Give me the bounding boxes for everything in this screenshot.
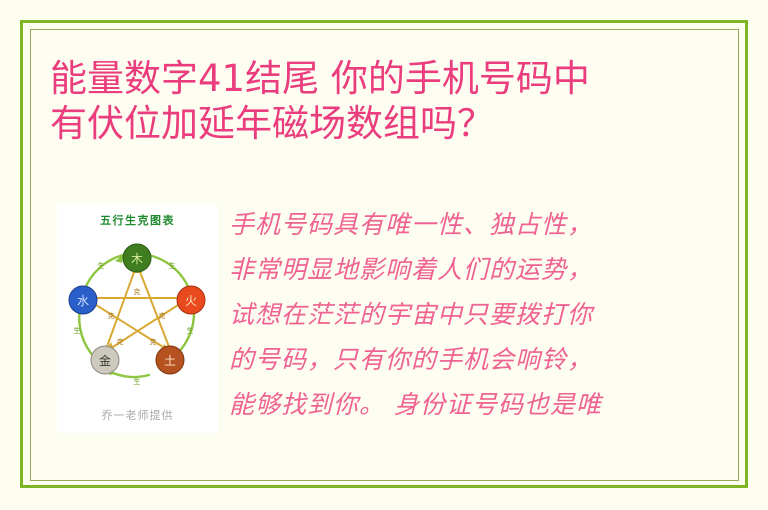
- body-line-4: 的号码，只有你的手机会响铃，: [229, 337, 699, 382]
- body-line-3: 试想在茫茫的宇宙中只要拨打你: [229, 292, 699, 337]
- svg-text:金: 金: [99, 353, 111, 368]
- svg-text:生: 生: [134, 377, 141, 386]
- svg-text:生: 生: [98, 261, 105, 270]
- page-title: 能量数字41结尾 你的手机号码中 有伏位加延年磁场数组吗？: [50, 56, 710, 146]
- article-content: 五行生克图表: [57, 204, 697, 444]
- article-page: 能量数字41结尾 你的手机号码中 有伏位加延年磁场数组吗？ 五行生克图表: [0, 0, 768, 510]
- svg-text:克: 克: [159, 312, 166, 320]
- five-elements-diagram: 木 火 土 金 水: [65, 236, 210, 394]
- svg-text:克: 克: [134, 288, 141, 296]
- svg-text:土: 土: [164, 354, 176, 368]
- svg-text:水: 水: [77, 294, 89, 308]
- node-earth: 土: [156, 346, 184, 374]
- svg-text:克: 克: [150, 338, 157, 346]
- title-line-1: 能量数字41结尾 你的手机号码中: [50, 56, 710, 101]
- svg-text:生: 生: [187, 326, 194, 335]
- node-fire: 火: [177, 286, 205, 314]
- article-body: 手机号码具有唯一性、独占性， 非常明显地影响着人们的运势， 试想在茫茫的宇宙中只…: [229, 202, 699, 427]
- body-line-5: 能够找到你。 身份证号码也是唯: [229, 382, 699, 427]
- node-metal: 金: [91, 346, 119, 374]
- body-line-2: 非常明显地影响着人们的运势，: [229, 247, 699, 292]
- figure-caption: 乔一老师提供: [57, 407, 218, 423]
- figure-heading: 五行生克图表: [57, 212, 218, 228]
- svg-text:克: 克: [117, 338, 124, 346]
- svg-text:木: 木: [131, 252, 143, 266]
- svg-text:生: 生: [169, 261, 176, 270]
- node-water: 水: [69, 286, 97, 314]
- node-wood: 木: [123, 244, 151, 272]
- svg-text:火: 火: [185, 294, 197, 308]
- five-elements-figure-card: 五行生克图表: [57, 204, 218, 433]
- svg-text:生: 生: [74, 326, 81, 335]
- title-line-2: 有伏位加延年磁场数组吗？: [50, 101, 710, 146]
- svg-text:克: 克: [108, 312, 115, 320]
- body-line-1: 手机号码具有唯一性、独占性，: [229, 202, 699, 247]
